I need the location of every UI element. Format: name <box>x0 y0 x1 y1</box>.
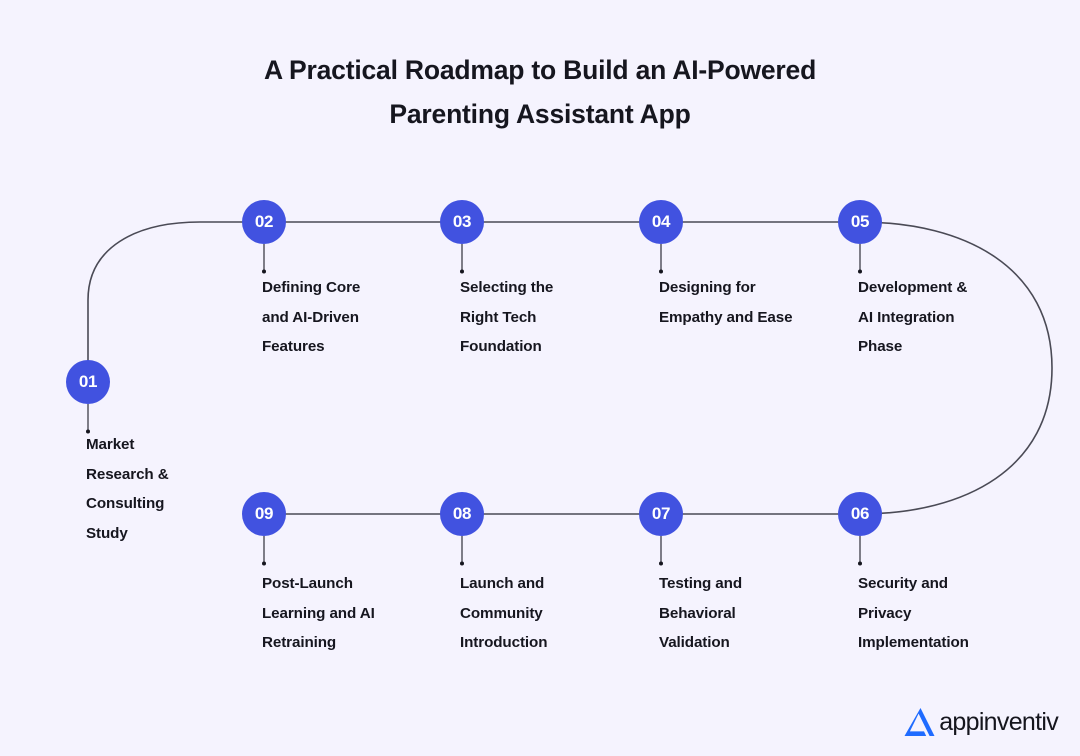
roadmap-node-09-number: 09 <box>255 504 273 524</box>
roadmap-node-06-number: 06 <box>851 504 869 524</box>
stem-09 <box>262 536 268 568</box>
roadmap-node-01[interactable]: 01 <box>66 360 110 404</box>
roadmap-label-09: Post-Launch Learning and AI Retraining <box>262 569 442 658</box>
stem-04 <box>659 244 665 276</box>
roadmap-node-06[interactable]: 06 <box>838 492 882 536</box>
roadmap-node-03-number: 03 <box>453 212 471 232</box>
roadmap-node-04[interactable]: 04 <box>639 200 683 244</box>
stem-05 <box>858 244 864 276</box>
stem-07 <box>659 536 665 568</box>
stem-02 <box>262 244 268 276</box>
appinventiv-logo: appinventiv <box>903 706 1058 738</box>
appinventiv-logo-text: appinventiv <box>939 710 1058 735</box>
stem-08 <box>460 536 466 568</box>
roadmap-diagram: 01 Market Research & Consulting Study 02… <box>0 0 1080 756</box>
stem-03 <box>460 244 466 276</box>
roadmap-node-02-number: 02 <box>255 212 273 232</box>
roadmap-label-06: Security and Privacy Implementation <box>858 569 1033 658</box>
roadmap-label-08: Launch and Community Introduction <box>460 569 635 658</box>
roadmap-label-04: Designing for Empathy and Ease <box>659 273 844 332</box>
roadmap-node-08-number: 08 <box>453 504 471 524</box>
roadmap-label-03: Selecting the Right Tech Foundation <box>460 273 635 362</box>
roadmap-label-07: Testing and Behavioral Validation <box>659 569 834 658</box>
roadmap-node-07[interactable]: 07 <box>639 492 683 536</box>
roadmap-node-01-number: 01 <box>79 372 97 392</box>
roadmap-node-04-number: 04 <box>652 212 670 232</box>
roadmap-label-02: Defining Core and AI-Driven Features <box>262 273 437 362</box>
roadmap-label-01: Market Research & Consulting Study <box>86 430 206 548</box>
roadmap-node-09[interactable]: 09 <box>242 492 286 536</box>
roadmap-node-08[interactable]: 08 <box>440 492 484 536</box>
roadmap-label-05: Development & AI Integration Phase <box>858 273 1033 362</box>
roadmap-node-05-number: 05 <box>851 212 869 232</box>
connector-path-main <box>88 222 1052 514</box>
roadmap-node-02[interactable]: 02 <box>242 200 286 244</box>
chevron-a-mark-icon <box>903 706 937 738</box>
roadmap-node-03[interactable]: 03 <box>440 200 484 244</box>
stem-06 <box>858 536 864 568</box>
roadmap-node-07-number: 07 <box>652 504 670 524</box>
roadmap-node-05[interactable]: 05 <box>838 200 882 244</box>
